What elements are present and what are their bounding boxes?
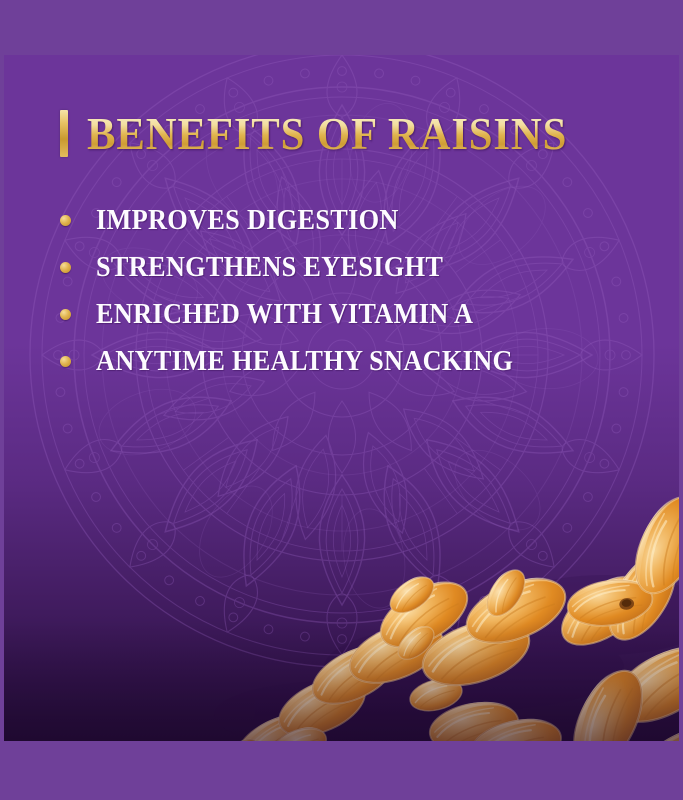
benefit-label: ENRICHED WITH VITAMIN A xyxy=(96,299,473,331)
raisins-benefits-banner: BENEFITS OF RAISINS IMPROVES DIGESTION S… xyxy=(0,0,683,800)
bullet-dot-icon xyxy=(60,356,71,367)
bullet-dot-icon xyxy=(60,309,71,320)
title-row: BENEFITS OF RAISINS xyxy=(60,110,603,157)
list-item: STRENGTHENS EYESIGHT xyxy=(60,244,540,291)
benefits-list: IMPROVES DIGESTION STRENGTHENS EYESIGHT … xyxy=(60,197,540,385)
gold-accent-bar-icon xyxy=(60,110,68,157)
banner-content: BENEFITS OF RAISINS IMPROVES DIGESTION S… xyxy=(4,55,679,741)
bullet-dot-icon xyxy=(60,262,71,273)
bullet-dot-icon xyxy=(60,215,71,226)
list-item: ENRICHED WITH VITAMIN A xyxy=(60,291,540,338)
benefit-label: STRENGTHENS EYESIGHT xyxy=(96,252,443,284)
benefit-label: ANYTIME HEALTHY SNACKING xyxy=(96,346,513,378)
list-item: IMPROVES DIGESTION xyxy=(60,197,540,244)
banner-panel: BENEFITS OF RAISINS IMPROVES DIGESTION S… xyxy=(4,55,679,741)
benefit-label: IMPROVES DIGESTION xyxy=(96,205,399,237)
list-item: ANYTIME HEALTHY SNACKING xyxy=(60,338,540,385)
page-title: BENEFITS OF RAISINS xyxy=(87,111,567,157)
